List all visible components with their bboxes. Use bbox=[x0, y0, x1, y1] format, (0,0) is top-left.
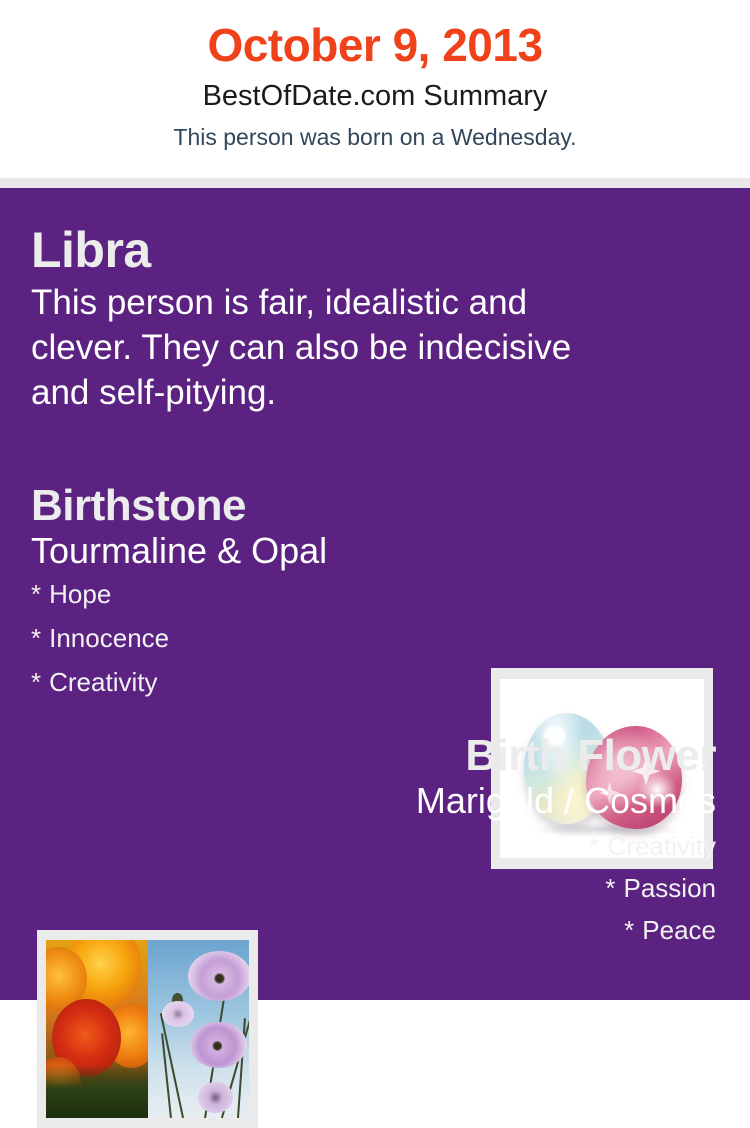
zodiac-description: This person is fair, idealistic and clev… bbox=[31, 281, 606, 415]
asterisk-bullet-icon: * bbox=[31, 579, 41, 609]
marigold-photo-half bbox=[46, 940, 148, 1118]
birthflower-trait-label: Peace bbox=[642, 915, 716, 945]
cosmos-photo-half bbox=[148, 940, 250, 1118]
birthflower-section: Birth Flower Marigold / Cosmos *Creativi… bbox=[296, 733, 716, 959]
cosmos-flower-icon bbox=[162, 1001, 194, 1028]
birthstone-trait-label: Hope bbox=[49, 579, 111, 609]
asterisk-bullet-icon: * bbox=[31, 667, 41, 697]
birthflower-trait-label: Passion bbox=[624, 873, 717, 903]
summary-panel: Libra This person is fair, idealistic an… bbox=[0, 188, 750, 1000]
birthstone-trait-label: Creativity bbox=[49, 667, 157, 697]
birthflower-trait-list: *Creativity *Passion *Peace bbox=[296, 833, 716, 943]
asterisk-bullet-icon: * bbox=[590, 831, 600, 861]
cosmos-flower-icon bbox=[198, 1082, 233, 1112]
header-divider bbox=[0, 178, 750, 188]
born-weekday-text: This person was born on a Wednesday. bbox=[0, 126, 750, 149]
asterisk-bullet-icon: * bbox=[31, 623, 41, 653]
list-item: *Creativity bbox=[296, 833, 716, 859]
list-item: *Peace bbox=[296, 917, 716, 943]
birthstone-trait-label: Innocence bbox=[49, 623, 169, 653]
asterisk-bullet-icon: * bbox=[605, 873, 615, 903]
birthstone-title: Birthstone bbox=[31, 483, 471, 529]
list-item: *Hope bbox=[31, 581, 471, 607]
asterisk-bullet-icon: * bbox=[624, 915, 634, 945]
birthstone-section: Birthstone Tourmaline & Opal *Hope *Inno… bbox=[31, 483, 471, 713]
marigold-foliage bbox=[46, 1065, 148, 1118]
birthflower-title: Birth Flower bbox=[296, 733, 716, 779]
zodiac-section: Libra This person is fair, idealistic an… bbox=[31, 223, 631, 415]
birthstone-subtitle: Tourmaline & Opal bbox=[31, 531, 471, 571]
cosmos-flower-icon bbox=[188, 951, 249, 1001]
cosmos-flower-icon bbox=[190, 1022, 247, 1068]
birthflower-subtitle: Marigold / Cosmos bbox=[296, 781, 716, 821]
birthflower-trait-label: Creativity bbox=[608, 831, 716, 861]
site-summary-label: BestOfDate.com Summary bbox=[0, 82, 750, 111]
page-header: October 9, 2013 BestOfDate.com Summary T… bbox=[0, 0, 750, 178]
birthflower-photo bbox=[46, 940, 249, 1118]
birthflower-image-frame bbox=[37, 930, 258, 1128]
zodiac-sign-name: Libra bbox=[31, 223, 631, 277]
birthstone-trait-list: *Hope *Innocence *Creativity bbox=[31, 581, 471, 695]
list-item: *Innocence bbox=[31, 625, 471, 651]
page-title-date: October 9, 2013 bbox=[0, 22, 750, 68]
list-item: *Passion bbox=[296, 875, 716, 901]
list-item: *Creativity bbox=[31, 669, 471, 695]
cosmos-stem bbox=[160, 1013, 184, 1118]
